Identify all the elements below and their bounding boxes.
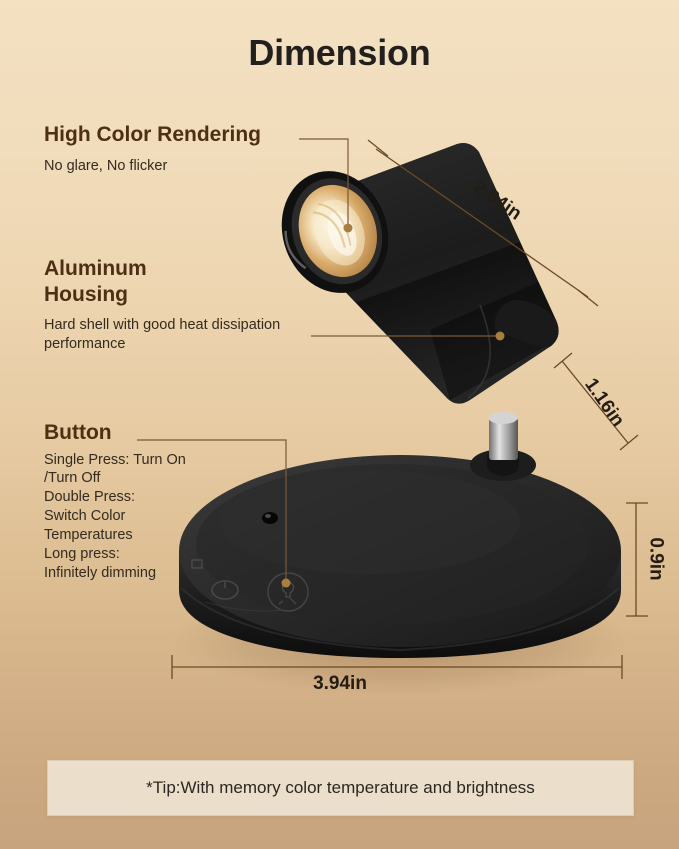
callout-body: Hard shell with good heat dissipation pe… [44, 316, 280, 354]
lamp-stem [470, 412, 536, 481]
tip-text: *Tip:With memory color temperature and b… [146, 778, 535, 798]
dimension-label-base-diameter: 3.94in [313, 673, 367, 695]
callout-title: Button [44, 420, 186, 446]
product-dimension-infographic: Dimension [0, 0, 679, 849]
callout-title: High Color Rendering [44, 122, 261, 148]
callout-body: No glare, No flicker [44, 157, 261, 176]
lamp-base [179, 455, 621, 658]
indicator-bead [262, 512, 278, 524]
dimension-label-base-height: 0.9in [645, 537, 667, 580]
callout-body: Single Press: Turn On /Turn Off Double P… [44, 451, 186, 583]
callout-title: Aluminum Housing [44, 256, 280, 307]
lamp-head [265, 134, 575, 404]
callout-button: Button Single Press: Turn On /Turn Off D… [44, 420, 186, 583]
callout-high-color-rendering: High Color Rendering No glare, No flicke… [44, 122, 261, 176]
tip-banner: *Tip:With memory color temperature and b… [47, 760, 634, 816]
callout-aluminum-housing: Aluminum Housing Hard shell with good he… [44, 256, 280, 354]
